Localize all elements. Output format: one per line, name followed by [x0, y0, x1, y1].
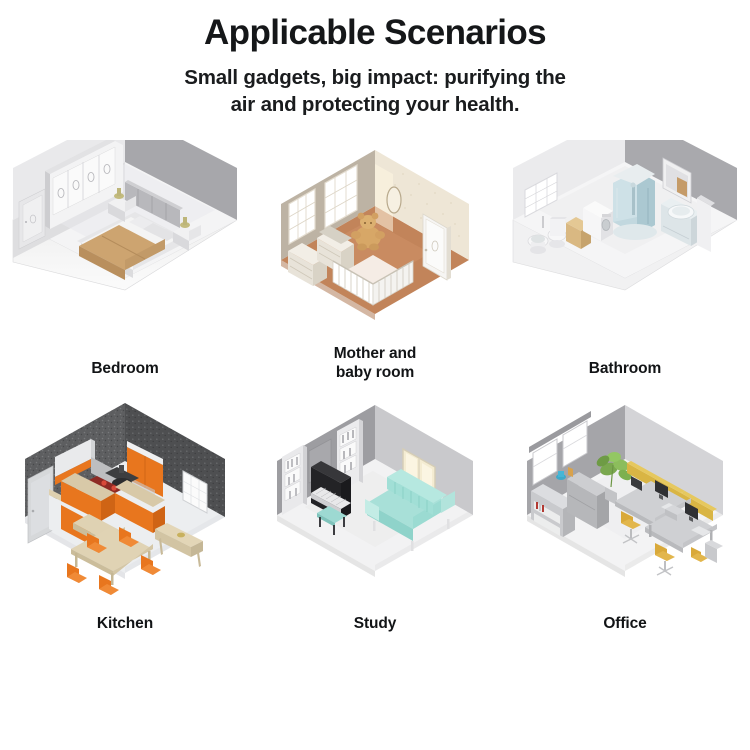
caption-line: Mother and	[250, 345, 500, 364]
shower-cabin-icon	[613, 164, 657, 240]
subtitle-line-2: air and protecting your health.	[110, 91, 640, 118]
caption-office: Office	[500, 615, 750, 634]
caption-study: Study	[250, 615, 500, 634]
caption-line: Bathroom	[500, 360, 750, 379]
caption-line: Bedroom	[0, 360, 250, 379]
poster-root: Applicable Scenarios Small gadgets, big …	[0, 0, 750, 750]
caption-line: baby room	[250, 364, 500, 383]
scenario-card-mother-and-baby-room[interactable]: Mother and baby room	[250, 140, 500, 395]
bathroom-illustration	[505, 140, 745, 345]
toilet-icon	[528, 235, 548, 254]
subtitle-line-1: Small gadgets, big impact: purifying the	[110, 64, 640, 91]
scenario-card-study[interactable]: Study	[250, 395, 500, 650]
office-illustration	[505, 395, 745, 600]
caption-mother-and-baby-room: Mother and baby room	[250, 345, 500, 383]
study-illustration	[255, 395, 495, 600]
caption-line: Kitchen	[0, 615, 250, 634]
page-title: Applicable Scenarios	[0, 14, 750, 52]
header: Applicable Scenarios Small gadgets, big …	[0, 0, 750, 118]
scenario-grid: Bedroom	[0, 140, 750, 650]
scenario-card-bathroom[interactable]: Bathroom	[500, 140, 750, 395]
scenario-card-kitchen[interactable]: Kitchen	[0, 395, 250, 650]
scenario-card-office[interactable]: Office	[500, 395, 750, 650]
bedroom-illustration	[5, 140, 245, 345]
page-subtitle: Small gadgets, big impact: purifying the…	[110, 64, 640, 118]
caption-bathroom: Bathroom	[500, 360, 750, 379]
caption-line: Study	[250, 615, 500, 634]
caption-line: Office	[500, 615, 750, 634]
oval-mirror-icon	[387, 187, 401, 213]
caption-kitchen: Kitchen	[0, 615, 250, 634]
kitchen-illustration	[5, 395, 245, 600]
bidet-icon	[548, 217, 567, 248]
mother-and-baby-room-illustration	[255, 140, 495, 345]
scenario-card-bedroom[interactable]: Bedroom	[0, 140, 250, 395]
caption-bedroom: Bedroom	[0, 360, 250, 379]
